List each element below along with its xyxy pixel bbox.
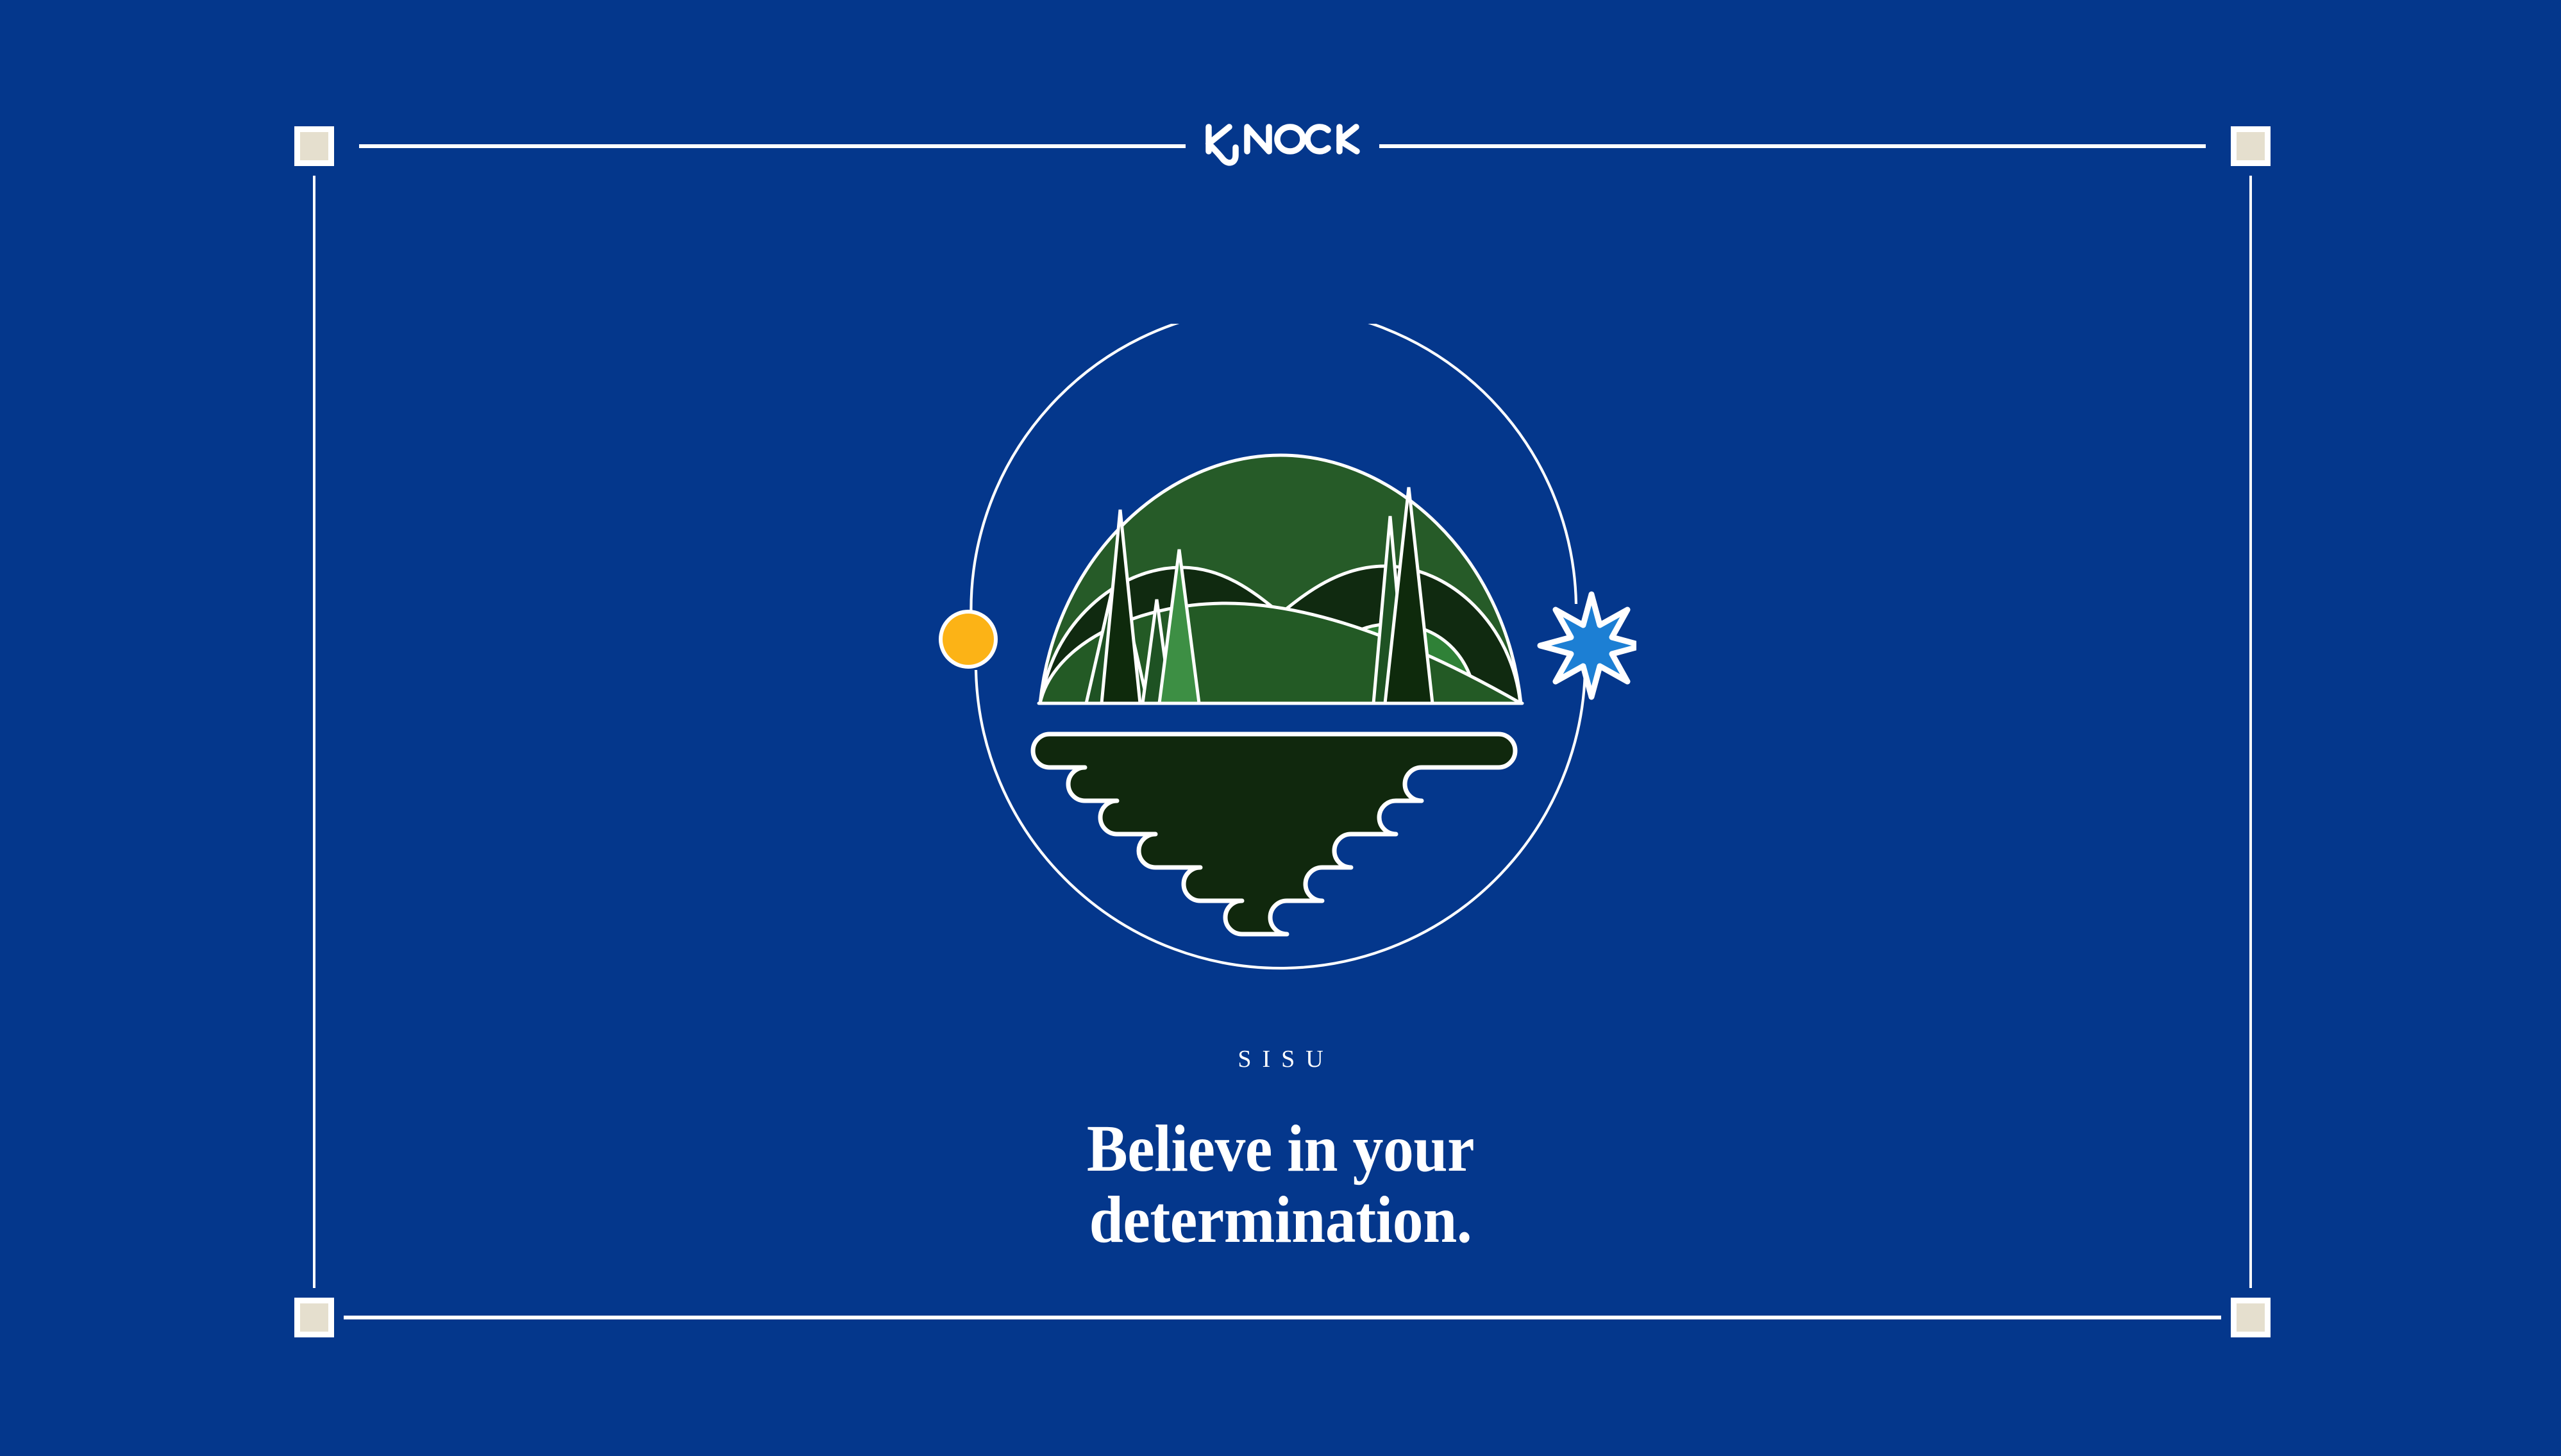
corner-marker-top-left xyxy=(294,126,334,166)
frame-line-bottom xyxy=(344,1316,2221,1319)
brand-wordmark-knock xyxy=(1186,119,1379,169)
headline-line-1: Believe in your xyxy=(1087,1112,1474,1185)
page-title: Believe in your determination. xyxy=(103,1113,2458,1256)
eight-point-star xyxy=(1540,594,1636,697)
message-block: SISU Believe in your determination. xyxy=(0,1045,2561,1256)
landscape-emblem-illustration xyxy=(925,324,1636,971)
frame-line-top-left xyxy=(359,144,1196,148)
frame-line-top-right xyxy=(1369,144,2206,148)
sun-circle xyxy=(941,612,996,667)
corner-marker-bottom-right xyxy=(2231,1298,2271,1337)
eyebrow-label: SISU xyxy=(0,1045,2561,1073)
corner-marker-bottom-left xyxy=(294,1298,334,1337)
corner-marker-top-right xyxy=(2231,126,2271,166)
headline-line-2: determination. xyxy=(1089,1183,1472,1257)
water-reflection xyxy=(1033,734,1515,934)
